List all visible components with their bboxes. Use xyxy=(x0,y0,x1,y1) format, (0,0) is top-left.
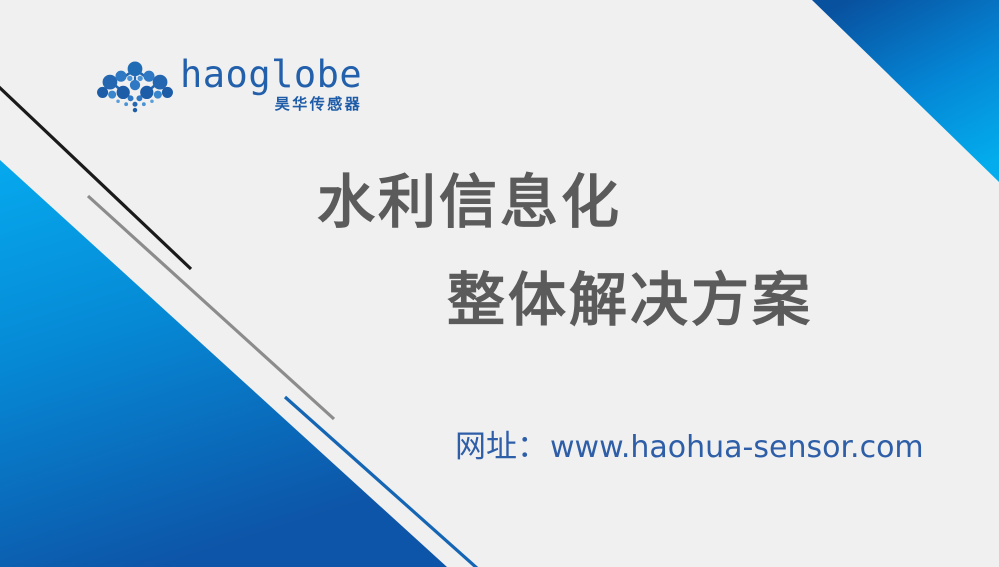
logo-text-block: haoglobe 昊华传感器 xyxy=(180,56,362,113)
logo-subtitle: 昊华传感器 xyxy=(275,96,363,113)
website-url[interactable]: www.haohua-sensor.com xyxy=(550,430,924,465)
website-line: 网址：www.haohua-sensor.com xyxy=(455,421,924,466)
brand-logo: haoglobe 昊华传感器 xyxy=(96,56,362,116)
right-blue-triangle xyxy=(812,0,999,182)
page-title-line-2: 整体解决方案 xyxy=(447,268,813,332)
logo-wordmark: haoglobe xyxy=(180,56,362,94)
haoglobe-molecule-logo-icon xyxy=(96,60,174,116)
blue-diagonal-line xyxy=(285,397,478,567)
page-title-line-1: 水利信息化 xyxy=(317,170,622,234)
title-slide: haoglobe 昊华传感器 水利信息化 整体解决方案 网址：www.haohu… xyxy=(0,0,999,567)
gray-diagonal-line xyxy=(88,196,334,419)
website-label: 网址： xyxy=(455,429,548,465)
